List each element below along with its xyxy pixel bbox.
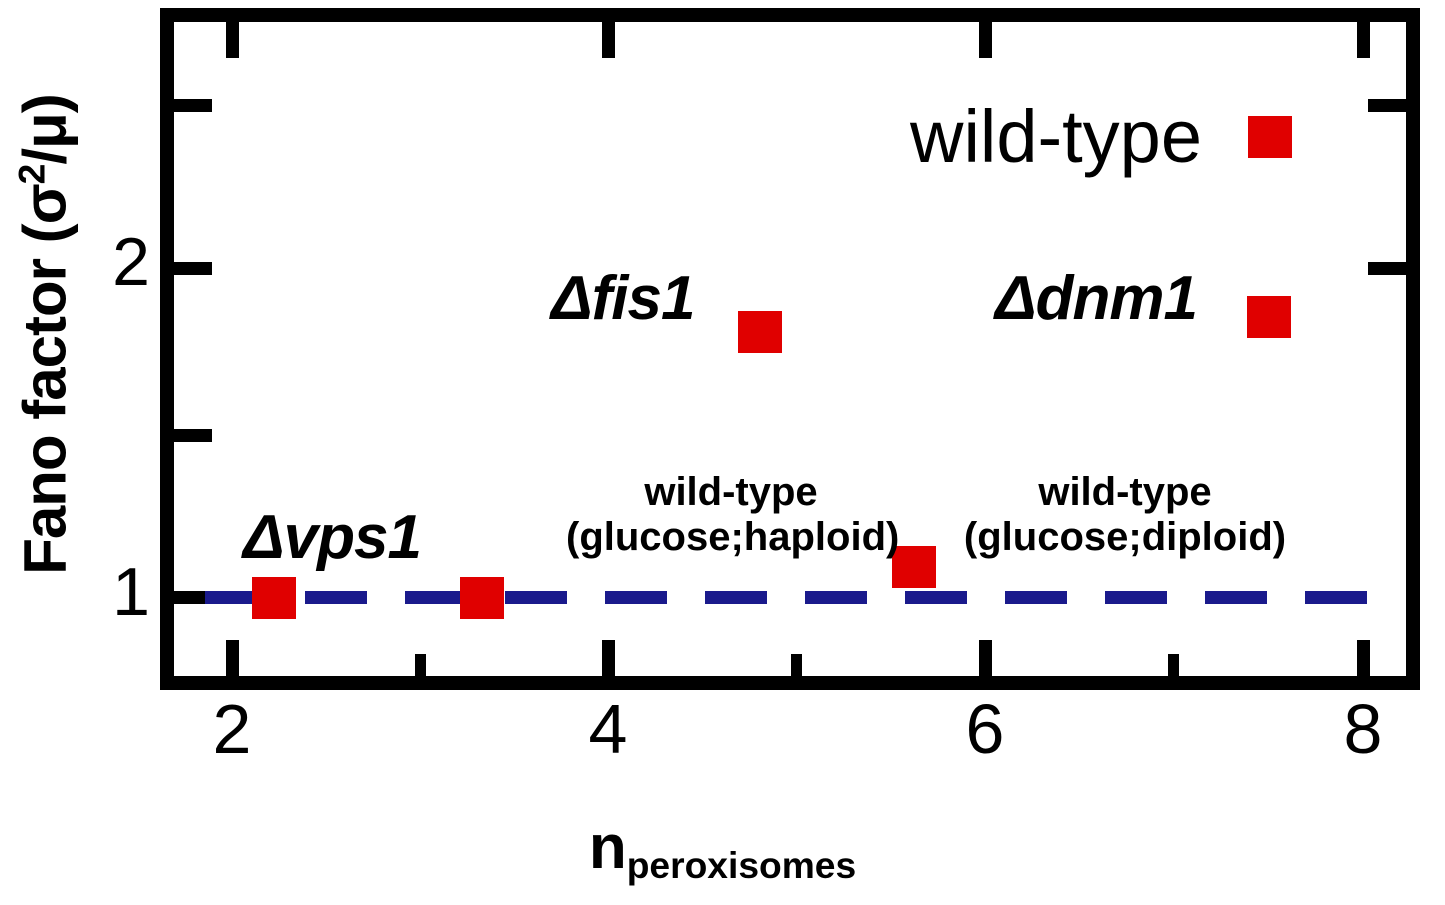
annotation-fis1: Δfis1 — [551, 268, 694, 330]
x-tick-label-4: 4 — [528, 694, 688, 764]
annotation-wt-glucose-diploid: wild-type (glucose;diploid) — [960, 470, 1290, 560]
x-tick-major-8 — [1357, 640, 1370, 676]
data-point-vps1 — [252, 577, 296, 619]
x-tick-label-2: 2 — [152, 694, 312, 764]
x-tick-top-4 — [602, 22, 615, 58]
annotation-wt-haploid-line1: wild-type — [566, 470, 896, 515]
x-tick-minor-7 — [1168, 654, 1179, 676]
y-tick-major-2 — [174, 262, 212, 275]
right-axis-spine — [1406, 8, 1420, 690]
x-axis-label: nperoxisomes — [0, 812, 1445, 883]
x-tick-minor-5 — [791, 654, 802, 676]
x-axis-spine — [160, 676, 1420, 690]
x-tick-major-2 — [226, 640, 239, 676]
annotation-wt-diploid-line1: wild-type — [960, 470, 1290, 515]
data-point-dnm1 — [1247, 296, 1291, 338]
x-tick-major-4 — [602, 640, 615, 676]
y-axis-spine — [160, 8, 174, 690]
y-axis-label-superscript: 2 — [11, 165, 53, 185]
top-axis-spine — [160, 8, 1420, 22]
x-axis-label-subscript: peroxisomes — [627, 844, 856, 886]
annotation-vps1: Δvps1 — [243, 507, 421, 569]
y-axis-label-prefix: Fano factor (σ — [12, 184, 79, 574]
annotation-wt-diploid-line2: (glucose;diploid) — [960, 515, 1290, 560]
x-tick-top-6 — [979, 22, 992, 58]
annotation-wt-glucose-haploid: wild-type (glucose;haploid) — [566, 470, 896, 560]
reference-line-fano-1 — [205, 591, 1405, 604]
x-tick-top-8 — [1357, 22, 1370, 58]
y-tick-major-3 — [174, 99, 212, 112]
annotation-dnm1: Δdnm1 — [995, 268, 1197, 330]
fano-factor-scatter-plot: 2 1 2 4 6 8 Fano factor (σ2/μ) nperoxiso… — [0, 0, 1445, 905]
legend-label-wild-type: wild-type — [910, 100, 1202, 174]
legend: wild-type — [910, 100, 1292, 174]
y-axis-label: Fano factor (σ2/μ) — [11, 5, 80, 665]
data-point-unlabeled — [460, 577, 504, 619]
x-tick-minor-3 — [415, 654, 426, 676]
x-tick-major-6 — [979, 640, 992, 676]
x-tick-label-8: 8 — [1283, 694, 1443, 764]
y-tick-right-3 — [1368, 99, 1406, 112]
y-tick-major-1p5 — [174, 429, 212, 442]
annotation-wt-haploid-line2: (glucose;haploid) — [566, 515, 896, 560]
legend-marker-wild-type — [1248, 116, 1292, 158]
y-tick-right-2 — [1368, 262, 1406, 275]
y-axis-label-suffix: /μ) — [12, 94, 79, 164]
x-axis-label-base: n — [589, 813, 627, 882]
x-tick-label-6: 6 — [905, 694, 1065, 764]
x-tick-top-2 — [226, 22, 239, 58]
data-point-fis1 — [738, 311, 782, 353]
